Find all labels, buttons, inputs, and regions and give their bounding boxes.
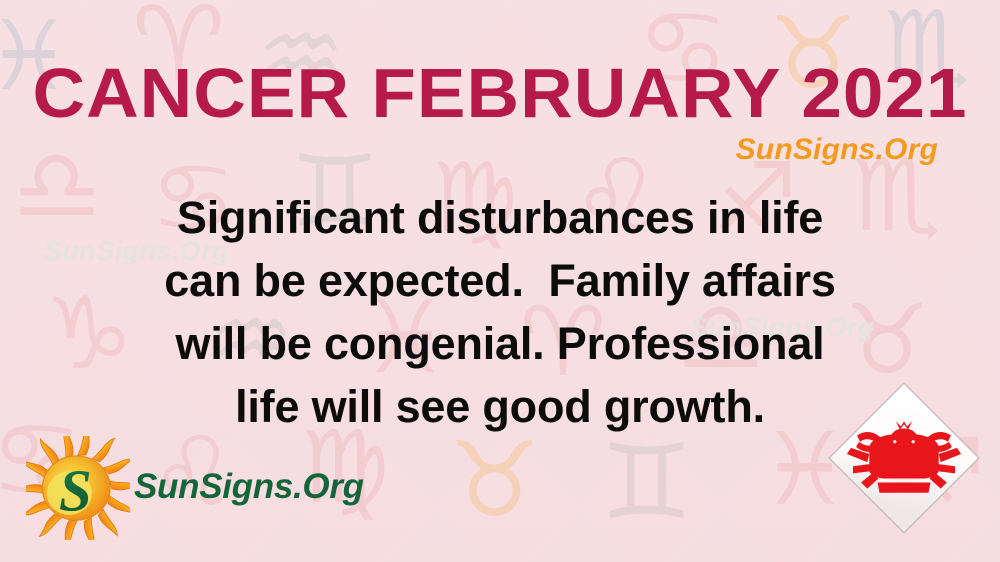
zodiac-sign-badge xyxy=(818,372,990,544)
horoscope-banner: ♓ ♈ ♒ ♋ ♉ ♏ ♎ ♋ ♊ ♍ ♌ ♐ ♏ ♑ ♒ ♓ ♈ ♎ ♉ ♋ … xyxy=(0,0,1000,562)
body-line-1: Significant disturbances in life xyxy=(0,186,1000,249)
body-line-3: will be congenial. Professional xyxy=(0,312,1000,375)
logo-text: SunSigns.Org xyxy=(134,467,364,507)
sun-logo-icon: S xyxy=(26,436,130,540)
body-line-2: can be expected. Family affairs xyxy=(0,249,1000,312)
brand-label-top: SunSigns.Org xyxy=(736,133,938,167)
logo-letter-s: S xyxy=(59,458,92,524)
site-logo[interactable]: S SunSigns.Org xyxy=(26,436,364,540)
page-title: CANCER FEBRUARY 2021 xyxy=(0,58,1000,128)
